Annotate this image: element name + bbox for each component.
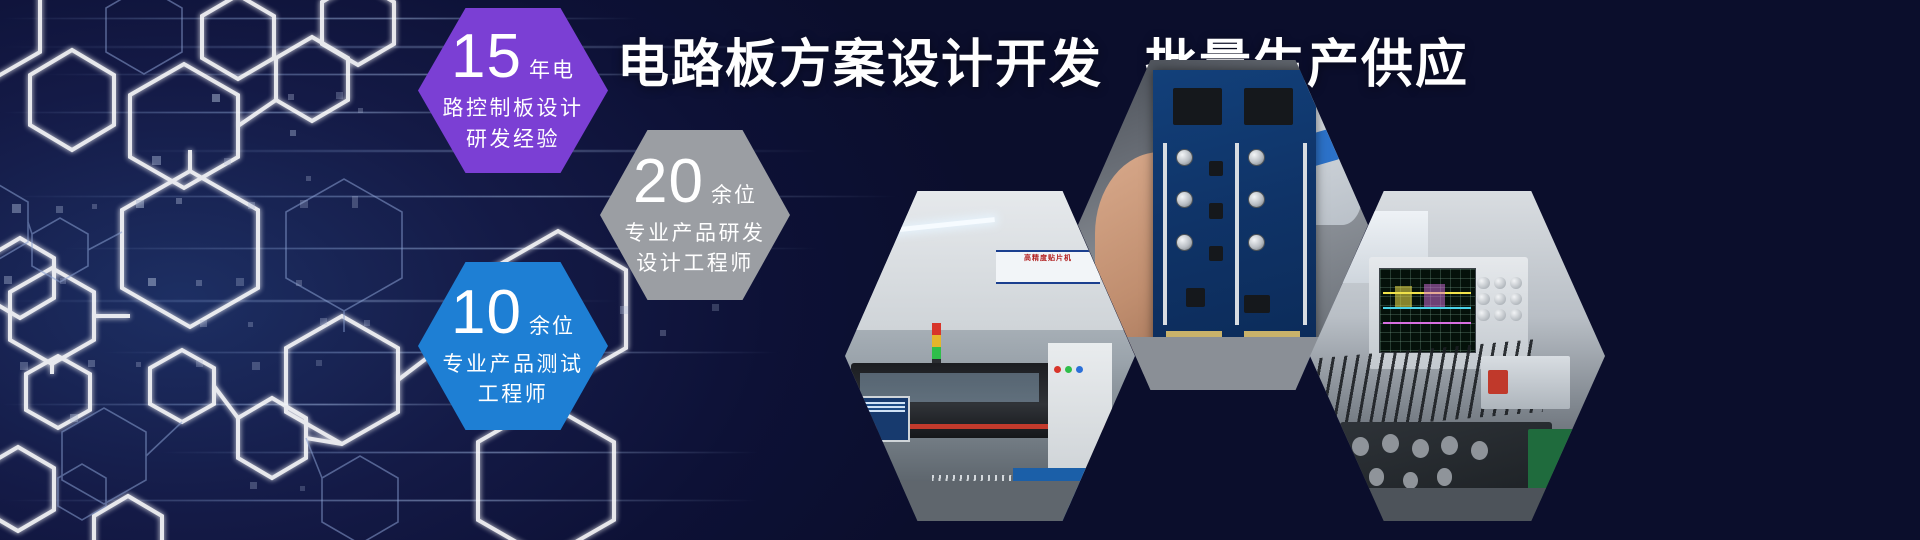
stat-unit: 余位 <box>711 179 757 209</box>
stat-number: 20 <box>633 151 704 213</box>
machine-sign: 高精度贴片机 <box>996 250 1100 284</box>
stat-line1: 专业产品测试 <box>443 350 584 380</box>
stat-line2: 研发经验 <box>466 125 560 155</box>
promo-banner: 电路板方案设计开发批量生产供应 15 年电 路控制板设计 研发经验 20 余位 … <box>0 0 1920 540</box>
headline-part1: 电路板方案设计开发 <box>617 36 1103 94</box>
stat-line1: 专业产品研发 <box>625 219 766 249</box>
stat-line2: 设计工程师 <box>636 249 754 279</box>
stat-number: 10 <box>451 282 522 344</box>
stat-number-row: 10 余位 <box>451 282 575 344</box>
stat-number: 15 <box>451 26 522 88</box>
stat-number-row: 20 余位 <box>633 151 757 213</box>
stat-number-row: 15 年电 <box>451 26 575 88</box>
stat-unit: 年电 <box>529 54 575 84</box>
stat-unit: 余位 <box>529 310 575 340</box>
stat-line1: 路控制板设计 <box>443 94 584 124</box>
headline: 电路板方案设计开发批量生产供应 <box>617 22 1469 97</box>
machine-sign-label: 高精度贴片机 <box>996 252 1100 265</box>
stat-line2: 工程师 <box>478 380 549 410</box>
